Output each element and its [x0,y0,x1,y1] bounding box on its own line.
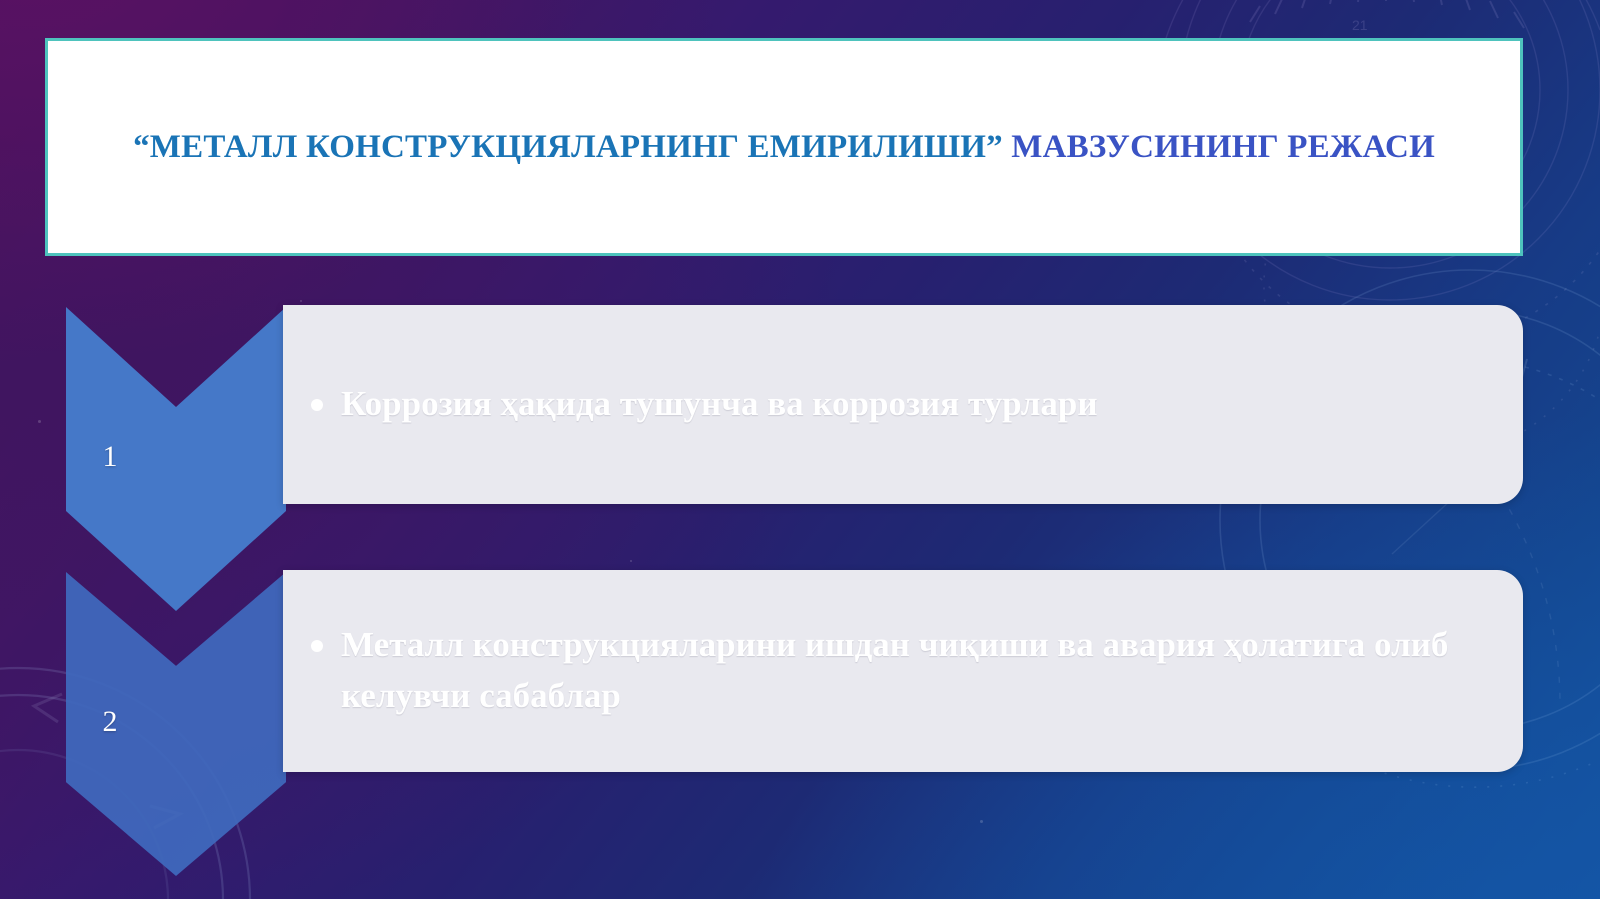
step-number-2: 2 [0,705,220,739]
svg-text:21: 21 [1352,17,1368,33]
agenda-item-box-2[interactable]: Металл конструкцияларини ишдан чиқиши ва… [283,570,1523,772]
agenda-item-box-1[interactable]: Коррозия ҳақида тушунча ва коррозия турл… [283,305,1523,504]
bullet-icon [311,399,323,411]
background-speck [980,820,983,823]
agenda-item-text-2: Металл конструкцияларини ишдан чиқиши ва… [341,620,1497,722]
agenda-item-text-1: Коррозия ҳақида тушунча ва коррозия турл… [341,379,1098,430]
background-speck [300,300,302,302]
bullet-line: Коррозия ҳақида тушунча ва коррозия турл… [305,379,1497,430]
bullet-line: Металл конструкцияларини ишдан чиқиши ва… [305,620,1497,722]
slide: 0 8 150 21 “МЕТАЛЛ КОНСТРУКЦИЯЛАРНИНГ ЕМ… [0,0,1600,899]
step-number-1: 1 [0,440,220,474]
page-title-part-2: МАВЗУСИНИНГ РЕЖАСИ [1003,129,1435,165]
page-title: “МЕТАЛЛ КОНСТРУКЦИЯЛАРНИНГ ЕМИРИЛИШИ” МА… [93,125,1475,170]
title-card: “МЕТАЛЛ КОНСТРУКЦИЯЛАРНИНГ ЕМИРИЛИШИ” МА… [45,38,1523,256]
background-speck [38,420,41,423]
bullet-icon [311,640,323,652]
page-title-part-1: “МЕТАЛЛ КОНСТРУКЦИЯЛАРНИНГ ЕМИРИЛИШИ” [133,129,1003,165]
background-speck [630,560,632,562]
